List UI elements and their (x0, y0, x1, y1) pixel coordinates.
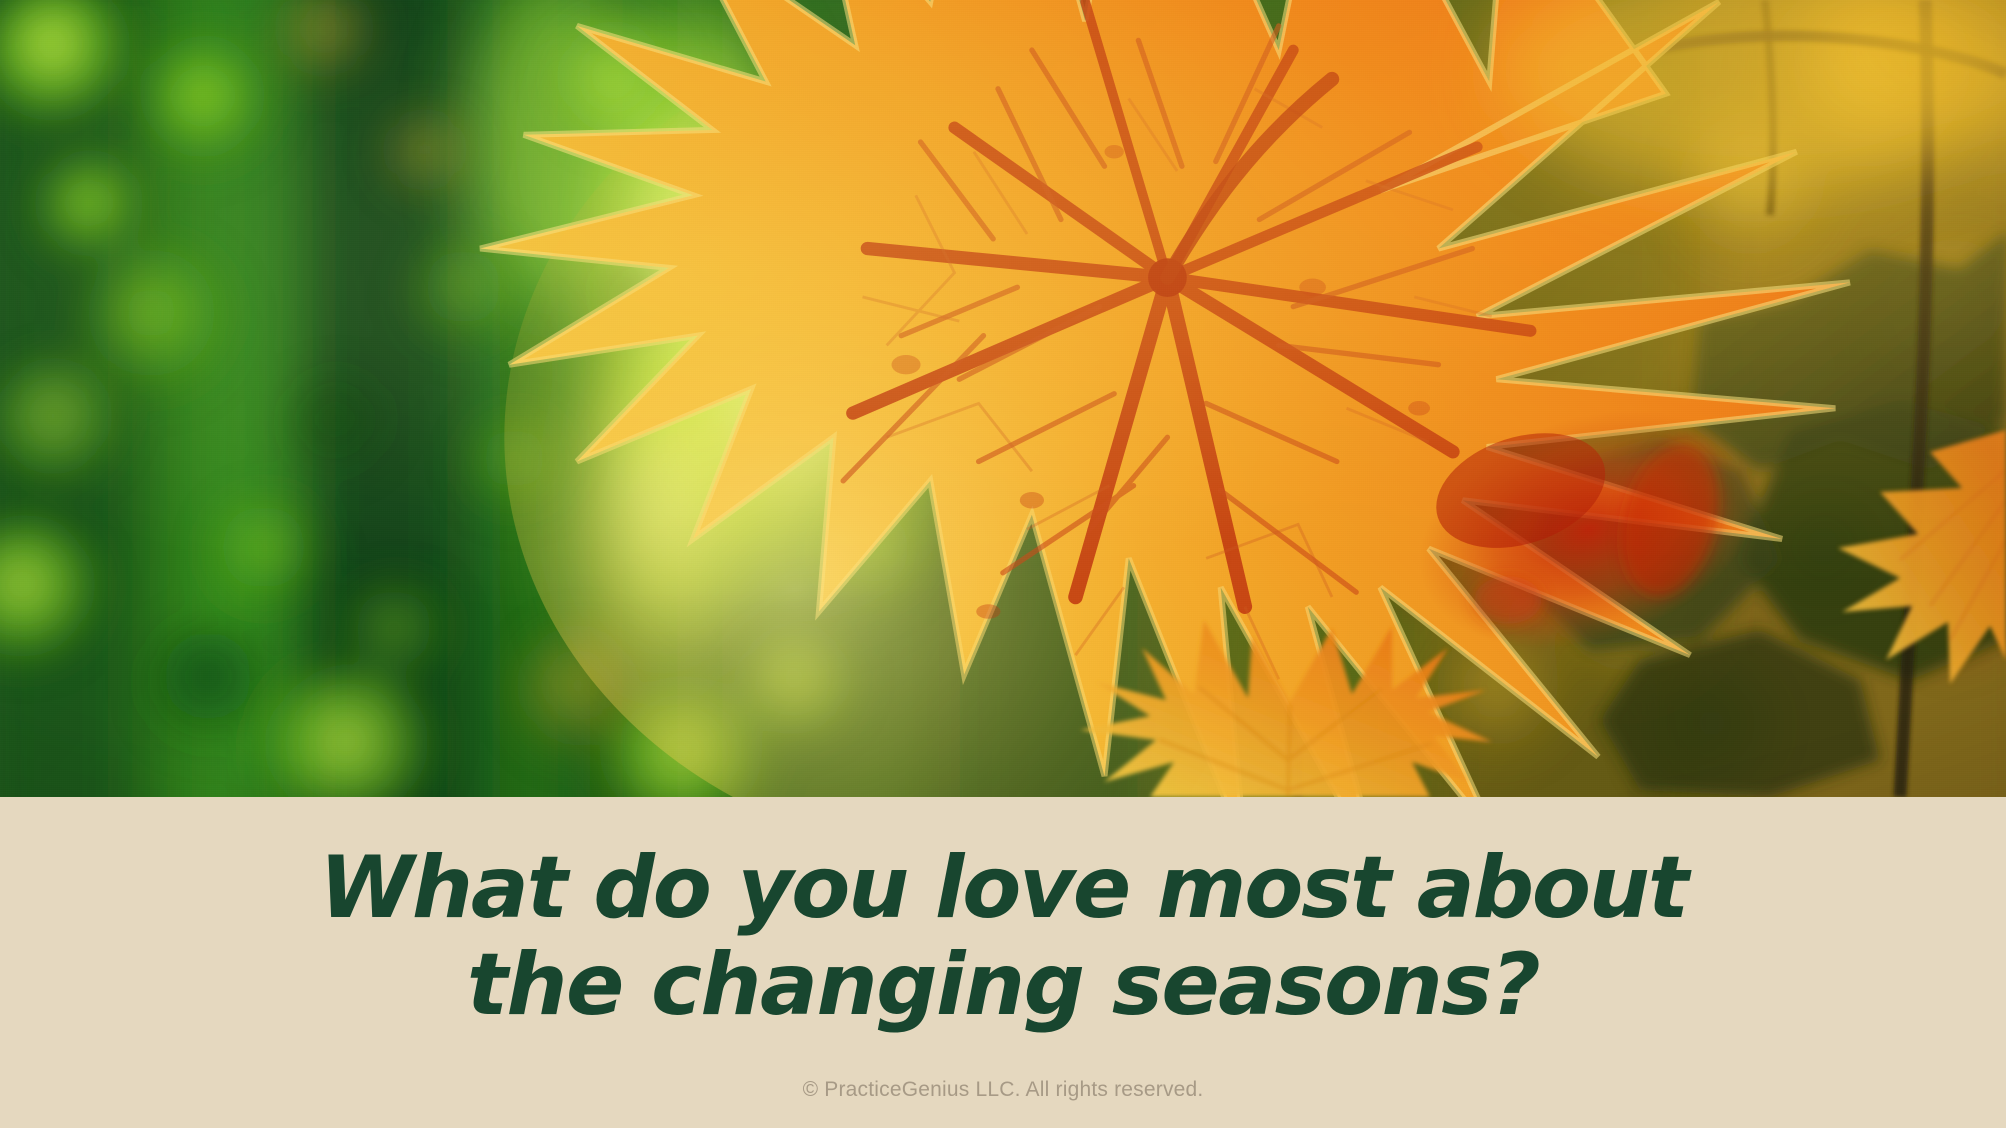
hero-photo (0, 0, 2006, 797)
headline-line-2: the changing seasons? (0, 937, 2006, 1034)
social-post-card: What do you love most about the changing… (0, 0, 2006, 1128)
copyright-notice: © PracticeGenius LLC. All rights reserve… (0, 1078, 2006, 1102)
headline-line-1: What do you love most about (0, 840, 2006, 937)
hero-photo-artwork (0, 0, 2006, 797)
headline: What do you love most about the changing… (0, 840, 2006, 1034)
